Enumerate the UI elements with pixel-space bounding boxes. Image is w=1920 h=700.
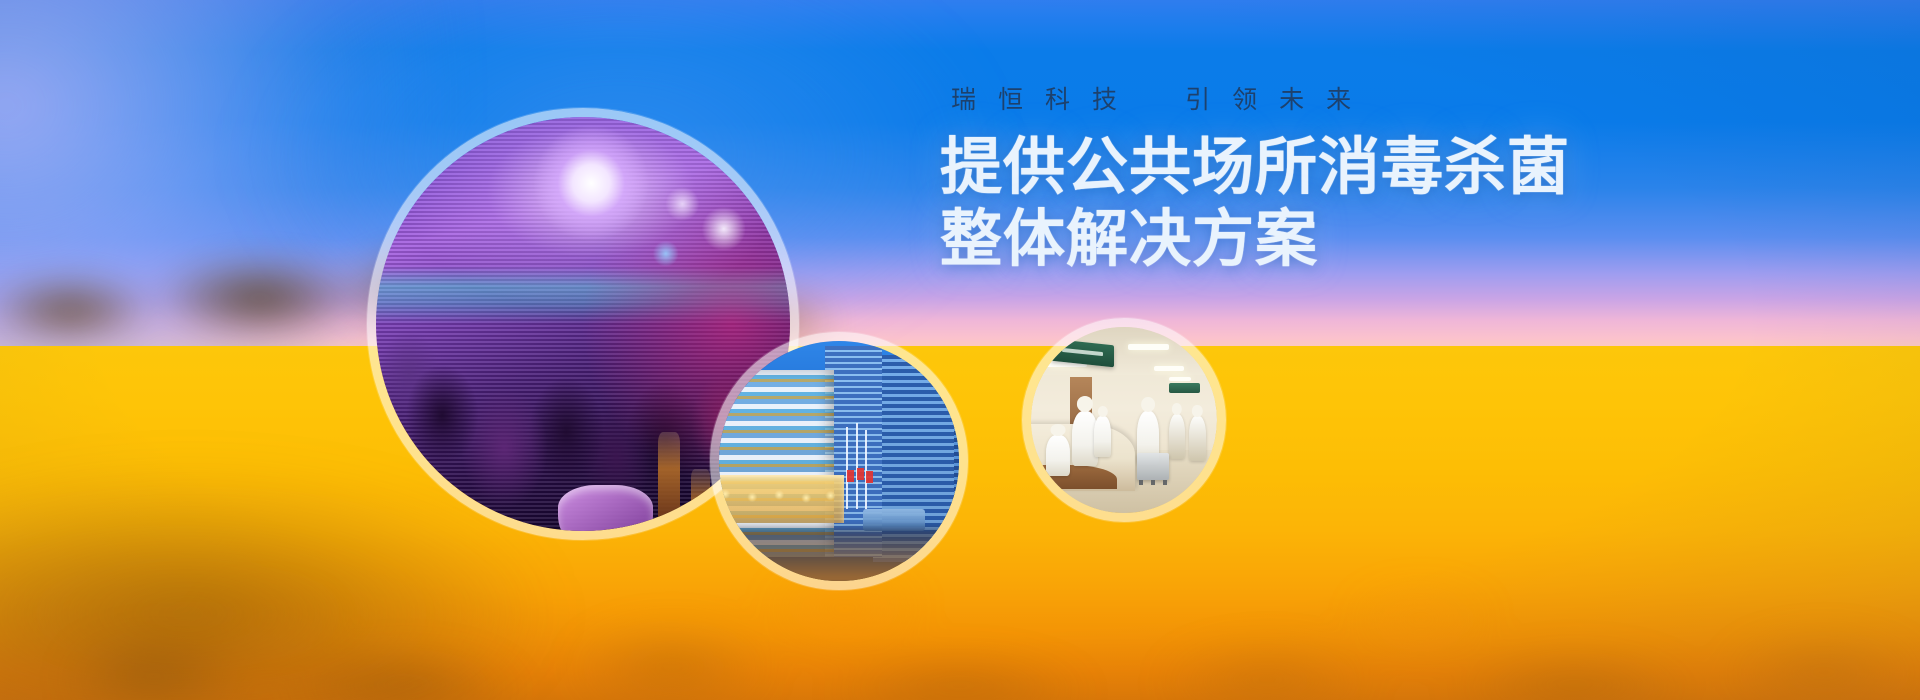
headline-line-2: 整体解决方案 [940, 207, 1570, 272]
tagline-char-3: 科 [1034, 88, 1081, 113]
bottle-secondary [691, 469, 710, 540]
tagline-segment-1: 瑞 恒 科 技 [940, 88, 1128, 113]
banner-copy: 瑞 恒 科 技 引 领 未 来 提供公共场所消毒杀菌 整体解决方案 [940, 88, 1570, 272]
ceiling-light-2 [1128, 344, 1169, 350]
tagline-char-2: 恒 [987, 88, 1034, 113]
headline-line-1: 提供公共场所消毒杀菌 [940, 135, 1570, 200]
hospital-photo [1031, 327, 1217, 513]
tagline-segment-2: 引 领 未 来 [1174, 88, 1362, 113]
medical-cart [1137, 453, 1169, 479]
photo-bubble-hospital[interactable] [1022, 318, 1226, 522]
photo-bubble-office-buildings[interactable] [710, 332, 968, 590]
tagline-char-8: 来 [1315, 88, 1362, 113]
flagpole-3 [865, 430, 867, 509]
street-foreground [719, 528, 959, 586]
tagline-char-7: 未 [1268, 88, 1315, 113]
flagpole-2 [856, 423, 858, 509]
nurse-seated [1046, 435, 1070, 476]
bottle [658, 432, 680, 540]
tagline-char-5: 引 [1174, 88, 1221, 113]
promo-banner: 瑞 恒 科 技 引 领 未 来 提供公共场所消毒杀菌 整体解决方案 [0, 0, 1920, 700]
nurse-corridor-1 [1169, 414, 1186, 459]
tagline-char-6: 领 [1221, 88, 1268, 113]
brand-tagline: 瑞 恒 科 技 引 领 未 来 [940, 88, 1570, 113]
headline: 提供公共场所消毒杀菌 整体解决方案 [940, 135, 1570, 272]
nurse-behind-counter [1094, 416, 1111, 457]
office-buildings-photo [719, 341, 959, 581]
ice-bucket [558, 485, 653, 540]
tagline-char-4: 技 [1081, 88, 1128, 113]
ceiling-light-4 [1169, 377, 1191, 381]
tagline-char-1: 瑞 [940, 88, 987, 113]
nurse-corridor-2 [1189, 416, 1206, 461]
ceiling-light-3 [1154, 366, 1184, 371]
flagpole-1 [846, 427, 848, 509]
canopy-lights [710, 480, 844, 518]
department-sign-far [1169, 383, 1201, 393]
